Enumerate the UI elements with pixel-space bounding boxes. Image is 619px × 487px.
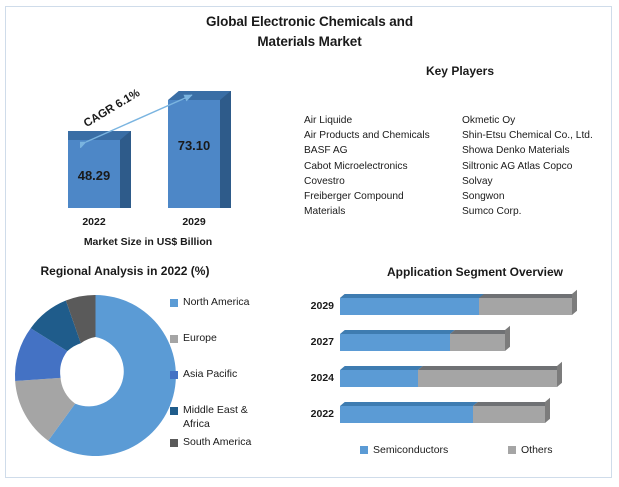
key-player-item: BASF AG xyxy=(304,143,444,158)
app-bar-2024-semiconductors xyxy=(340,370,418,387)
key-players-heading: Key Players xyxy=(330,64,590,78)
legend-label-middle-east-africa: Middle East & Africa xyxy=(183,404,248,431)
app-bar-2027-others xyxy=(450,334,505,351)
bar-2022-value: 48.29 xyxy=(68,168,120,183)
application-segment-heading: Application Segment Overview xyxy=(345,265,605,279)
bar-2029-side xyxy=(220,91,231,208)
app-bar-2024-others-cap xyxy=(418,366,562,370)
app-year-label-2024: 2024 xyxy=(300,372,334,384)
legend-item-south-america: South America xyxy=(170,436,251,450)
app-bar-2027-semiconductors xyxy=(340,334,450,351)
bar-2029-value: 73.10 xyxy=(168,138,220,153)
key-player-item: Okmetic Oy xyxy=(462,113,607,128)
app-bar-2024-semiconductors-cap xyxy=(340,366,423,370)
donut-svg xyxy=(8,288,183,463)
app-legend-label-others: Others xyxy=(521,444,553,456)
legend-swatch-north-america xyxy=(170,299,178,307)
app-bar-2022-others-cap xyxy=(473,402,550,406)
app-bar-2027-semiconductors-cap xyxy=(340,330,455,334)
app-bar-2029-others xyxy=(479,298,572,315)
key-player-item: Showa Denko Materials xyxy=(462,143,607,158)
key-player-item: Cabot Microelectronics xyxy=(304,159,444,174)
legend-item-europe: Europe xyxy=(170,332,217,346)
category-label-2029: 2029 xyxy=(162,216,226,228)
app-year-label-2029: 2029 xyxy=(300,300,334,312)
app-bar-row-2024 xyxy=(340,370,557,387)
app-bar-row-2029 xyxy=(340,298,572,315)
key-players-column-2: Okmetic Oy Shin-Etsu Chemical Co., Ltd. … xyxy=(462,113,607,219)
legend-swatch-europe xyxy=(170,335,178,343)
category-label-2022: 2022 xyxy=(62,216,126,228)
key-player-item: Air Liquide xyxy=(304,113,444,128)
market-size-axis-title: Market Size in US$ Billion xyxy=(28,236,268,248)
regional-donut-chart xyxy=(8,288,183,463)
app-bar-2029-end-cap xyxy=(572,290,577,315)
legend-label-asia-pacific: Asia Pacific xyxy=(183,368,237,382)
page-title: Global Electronic Chemicals and Material… xyxy=(0,12,619,52)
legend-label-north-america: North America xyxy=(183,296,250,310)
app-legend-swatch-others xyxy=(508,446,516,454)
key-player-item: Songwon xyxy=(462,189,607,204)
app-legend-label-semiconductors: Semiconductors xyxy=(373,444,448,456)
app-legend-swatch-semiconductors xyxy=(360,446,368,454)
app-bar-2022-semiconductors xyxy=(340,406,473,423)
app-bar-2022-end-cap xyxy=(545,398,550,423)
app-bar-2022-semiconductors-cap xyxy=(340,402,478,406)
legend-item-north-america: North America xyxy=(170,296,250,310)
legend-label-europe: Europe xyxy=(183,332,217,346)
key-player-item: Freiberger Compound Materials xyxy=(304,189,444,219)
app-bar-2029-semiconductors-cap xyxy=(340,294,484,298)
key-player-item: Air Products and Chemicals xyxy=(304,128,444,143)
app-bar-2027-others-cap xyxy=(450,330,510,334)
app-bar-row-2022 xyxy=(340,406,545,423)
key-player-item: Shin-Etsu Chemical Co., Ltd. xyxy=(462,128,607,143)
legend-label-south-america: South America xyxy=(183,436,251,450)
app-bar-2024-end-cap xyxy=(557,362,562,387)
key-player-item: Covestro xyxy=(304,174,444,189)
app-bar-2022-others xyxy=(473,406,545,423)
key-player-item: Siltronic AG Atlas Copco xyxy=(462,159,607,174)
page-title-line-1: Global Electronic Chemicals and xyxy=(0,12,619,32)
legend-swatch-asia-pacific xyxy=(170,371,178,379)
app-bar-2024-others xyxy=(418,370,557,387)
legend-item-middle-east-africa: Middle East & Africa xyxy=(170,404,248,431)
page-title-line-2: Materials Market xyxy=(0,32,619,52)
legend-item-asia-pacific: Asia Pacific xyxy=(170,368,237,382)
regional-legend: North America Europe Asia Pacific Middle… xyxy=(170,296,280,456)
app-bar-2029-semiconductors xyxy=(340,298,479,315)
legend-swatch-middle-east-africa xyxy=(170,407,178,415)
regional-analysis-heading: Regional Analysis in 2022 (%) xyxy=(20,264,230,278)
key-player-item: Sumco Corp. xyxy=(462,204,607,219)
legend-label-middle-east-line-1: Middle East & xyxy=(183,404,248,416)
app-year-label-2022: 2022 xyxy=(300,408,334,420)
legend-swatch-south-america xyxy=(170,439,178,447)
app-bar-2027-end-cap xyxy=(505,326,510,351)
key-players-column-1: Air Liquide Air Products and Chemicals B… xyxy=(304,113,444,219)
app-bar-row-2027 xyxy=(340,334,505,351)
infographic-canvas: Global Electronic Chemicals and Material… xyxy=(0,0,619,487)
key-player-item: Solvay xyxy=(462,174,607,189)
app-legend-item-others: Others xyxy=(508,444,553,456)
app-year-label-2027: 2027 xyxy=(300,336,334,348)
app-legend-item-semiconductors: Semiconductors xyxy=(360,444,448,456)
legend-label-middle-east-line-2: Africa xyxy=(183,418,210,430)
